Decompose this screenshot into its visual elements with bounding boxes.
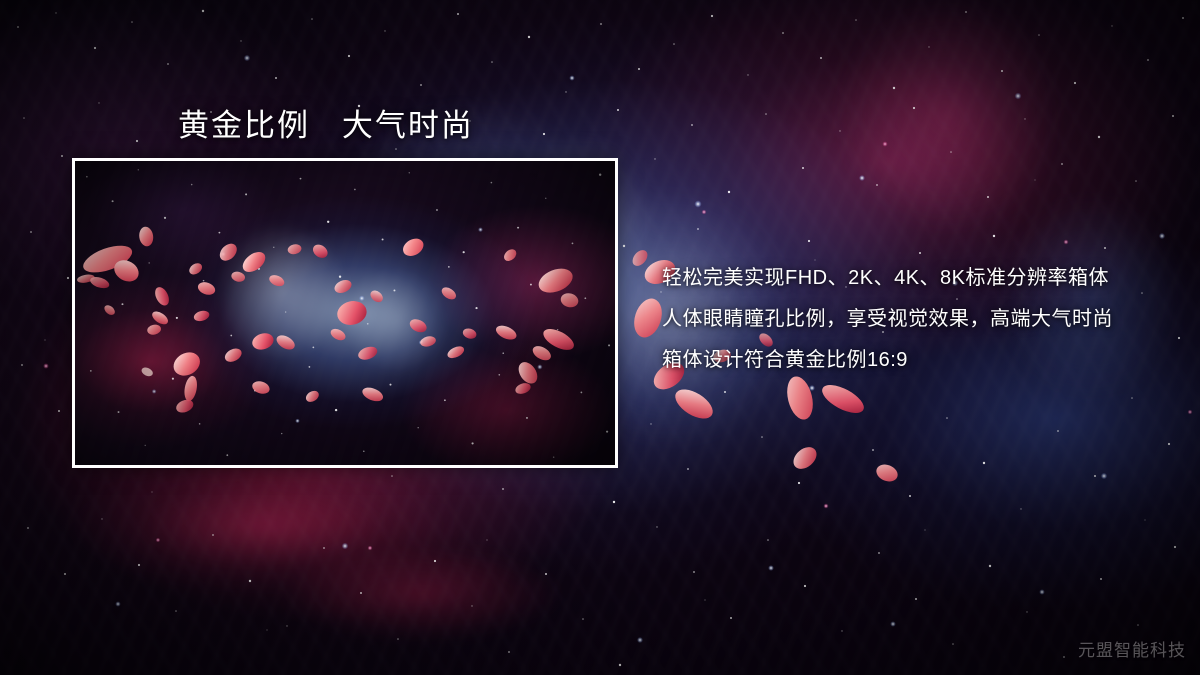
description-line-2: 人体眼睛瞳孔比例，享受视觉效果，高端大气时尚 [662, 299, 1162, 340]
description-line-3: 箱体设计符合黄金比例16:9 [662, 340, 1162, 381]
feature-description: 轻松完美实现FHD、2K、4K、8K标准分辨率箱体 人体眼睛瞳孔比例，享受视觉效… [662, 258, 1162, 381]
page-title: 黄金比例 大气时尚 [178, 100, 474, 145]
inset-galaxy-photo [72, 158, 618, 468]
watermark: 元盟智能科技 [1078, 636, 1186, 661]
slide-canvas: 黄金比例 大气时尚 轻松完美实现FHD、2K、4K、8K标准分辨率箱体 人体眼睛… [0, 0, 1200, 675]
inset-photo-vignette [75, 161, 615, 465]
description-line-1: 轻松完美实现FHD、2K、4K、8K标准分辨率箱体 [662, 258, 1162, 299]
